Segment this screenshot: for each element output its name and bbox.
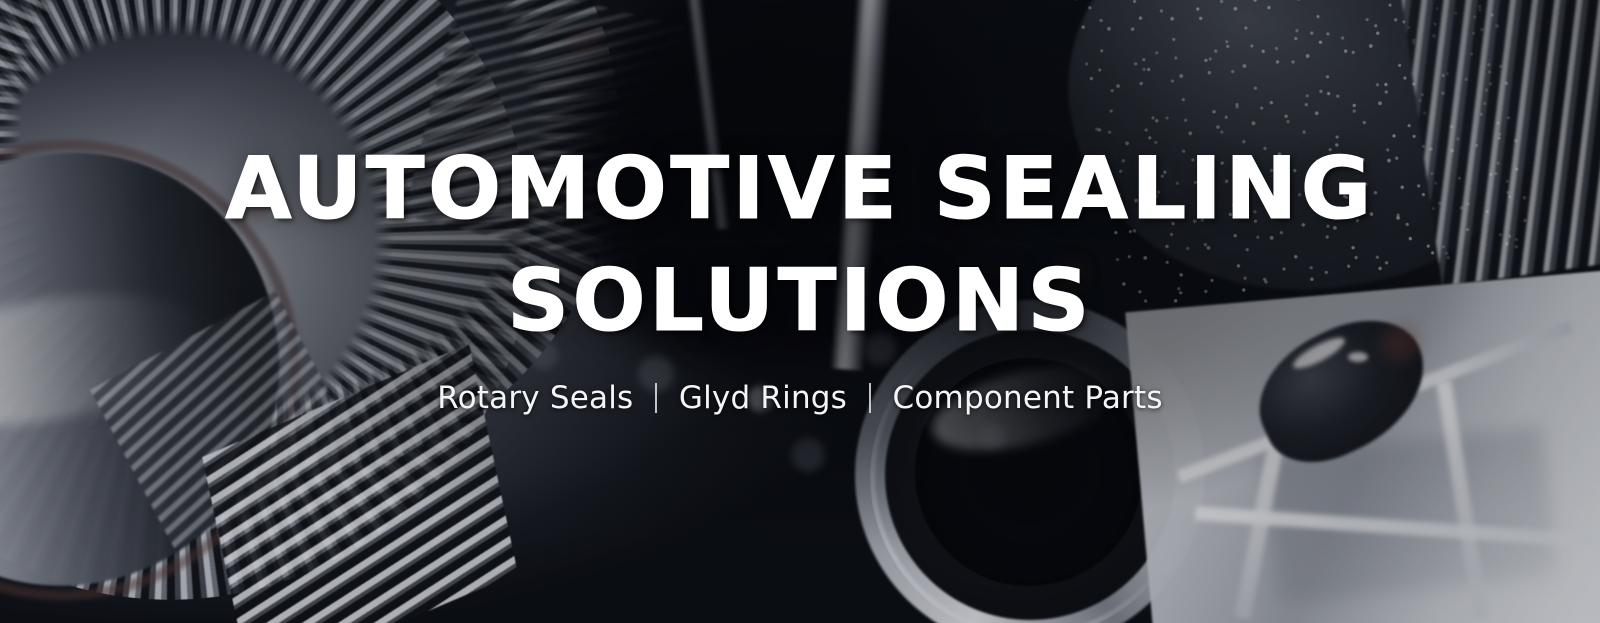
subtitle-separator-2 [869,383,871,413]
hero-banner: AUTOMOTIVE SEALING SOLUTIONS Rotary Seal… [0,0,1600,623]
hero-headline: AUTOMOTIVE SEALING SOLUTIONS [140,134,1460,358]
subtitle-separator-1 [655,383,657,413]
hero-content: AUTOMOTIVE SEALING SOLUTIONS Rotary Seal… [0,0,1600,623]
hero-subtitle: Rotary Seals Glyd Rings Component Parts [437,380,1162,416]
subtitle-item-rotary-seals: Rotary Seals [437,380,633,416]
subtitle-item-component-parts: Component Parts [893,380,1163,416]
subtitle-item-glyd-rings: Glyd Rings [679,380,847,416]
